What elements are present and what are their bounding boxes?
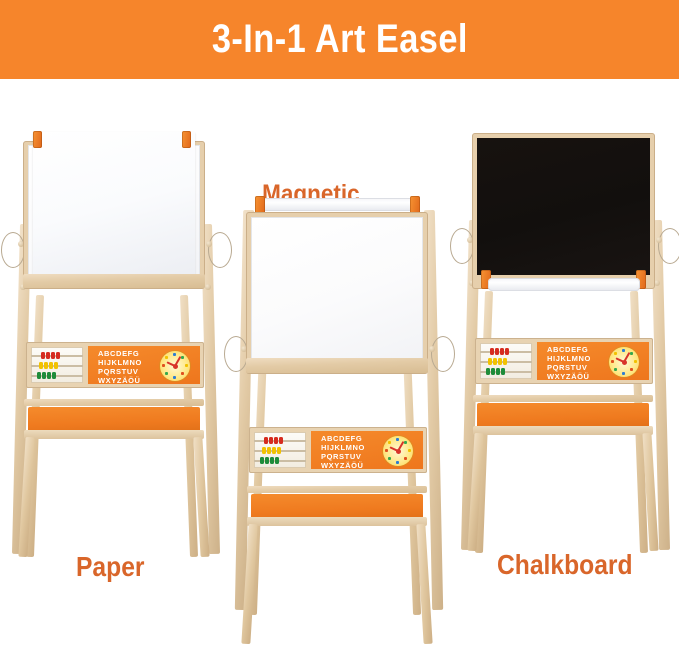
- tray-support-rail: [473, 395, 653, 402]
- alphabet-line-4: WXYZÄÖÜ: [98, 376, 142, 384]
- activity-panel: ABCDEFG HIJKLMNO PQRSTUV WXYZÄÖÜ: [475, 338, 653, 384]
- clock-graphic: [383, 436, 413, 466]
- alphabet-line-4: WXYZÄÖÜ: [547, 372, 591, 380]
- support-cord-left: [224, 336, 248, 372]
- alphabet-line-1: ABCDEFG: [321, 434, 365, 443]
- alphabet-line-2: HIJKLMNO: [98, 358, 142, 367]
- alphabet-panel: ABCDEFG HIJKLMNO PQRSTUV WXYZÄÖÜ: [537, 342, 649, 380]
- alphabet-line-3: PQRSTUV: [547, 363, 591, 372]
- alphabet-panel: ABCDEFG HIJKLMNO PQRSTUV WXYZÄÖÜ: [311, 431, 423, 469]
- abacus[interactable]: [254, 432, 306, 468]
- whiteboard-easel: ABCDEFG HIJKLMNO PQRSTUV WXYZÄÖÜ: [222, 174, 452, 654]
- paper-sheet: [33, 132, 195, 277]
- board-surface-whiteboard[interactable]: [251, 217, 423, 360]
- rear-leg-right: [403, 350, 421, 615]
- alphabet-text: ABCDEFG HIJKLMNO PQRSTUV WXYZÄÖÜ: [321, 434, 365, 469]
- post-knob-right: [429, 346, 435, 352]
- alphabet-line-2: HIJKLMNO: [321, 443, 365, 452]
- alphabet-line-3: PQRSTUV: [98, 367, 142, 376]
- abacus-beads-green[interactable]: [37, 372, 56, 379]
- support-cord-left: [1, 232, 25, 268]
- post-knob-right-2: [205, 284, 211, 290]
- board-bottom-rail: [246, 358, 428, 373]
- clock-graphic: [609, 347, 639, 377]
- post-knob-right: [206, 241, 212, 247]
- abacus-beads-green[interactable]: [486, 368, 505, 375]
- tray-front-lip: [473, 426, 653, 435]
- alphabet-text: ABCDEFG HIJKLMNO PQRSTUV WXYZÄÖÜ: [98, 349, 142, 384]
- tray-front-lip: [247, 517, 427, 526]
- abacus-beads-yellow[interactable]: [39, 362, 58, 369]
- paper-clip-left[interactable]: [33, 131, 42, 148]
- abacus[interactable]: [31, 347, 83, 383]
- alphabet-text: ABCDEFG HIJKLMNO PQRSTUV WXYZÄÖÜ: [547, 345, 591, 380]
- abacus-beads-red[interactable]: [264, 437, 283, 444]
- tray-support-rail: [247, 486, 427, 493]
- abacus-beads-red[interactable]: [41, 352, 60, 359]
- tray-support-rail: [24, 399, 204, 406]
- abacus-beads-green[interactable]: [260, 457, 279, 464]
- activity-panel: ABCDEFG HIJKLMNO PQRSTUV WXYZÄÖÜ: [26, 342, 204, 388]
- activity-panel: ABCDEFG HIJKLMNO PQRSTUV WXYZÄÖÜ: [249, 427, 427, 473]
- support-cord-right: [658, 228, 679, 264]
- paper-roll-bottom: [488, 278, 640, 291]
- alphabet-line-4: WXYZÄÖÜ: [321, 461, 365, 469]
- paper-clip-right[interactable]: [182, 131, 191, 148]
- abacus-beads-yellow[interactable]: [262, 447, 281, 454]
- alphabet-line-1: ABCDEFG: [547, 345, 591, 354]
- abacus-beads-red[interactable]: [490, 348, 509, 355]
- alphabet-line-2: HIJKLMNO: [547, 354, 591, 363]
- support-cord-left: [450, 228, 474, 264]
- alphabet-line-1: ABCDEFG: [98, 349, 142, 358]
- clock-graphic: [160, 351, 190, 381]
- header-banner: 3-In-1 Art Easel: [0, 0, 679, 79]
- product-image-stage: Magnetic Whiteboard Paper Chalkboard: [0, 79, 679, 633]
- alphabet-line-3: PQRSTUV: [321, 452, 365, 461]
- abacus-beads-yellow[interactable]: [488, 358, 507, 365]
- board-bottom-rail: [23, 274, 205, 288]
- alphabet-panel: ABCDEFG HIJKLMNO PQRSTUV WXYZÄÖÜ: [88, 346, 200, 384]
- post-knob-right: [656, 237, 662, 243]
- paper-easel: ABCDEFG HIJKLMNO PQRSTUV WXYZÄÖÜ: [0, 119, 230, 599]
- chalkboard-easel: ABCDEFG HIJKLMNO PQRSTUV WXYZÄÖÜ: [448, 115, 679, 595]
- abacus[interactable]: [480, 343, 532, 379]
- paper-roll-top: [262, 198, 414, 211]
- board-surface-chalkboard[interactable]: [477, 138, 650, 275]
- tray-front-lip: [24, 430, 204, 439]
- page-title: 3-In-1 Art Easel: [211, 17, 467, 62]
